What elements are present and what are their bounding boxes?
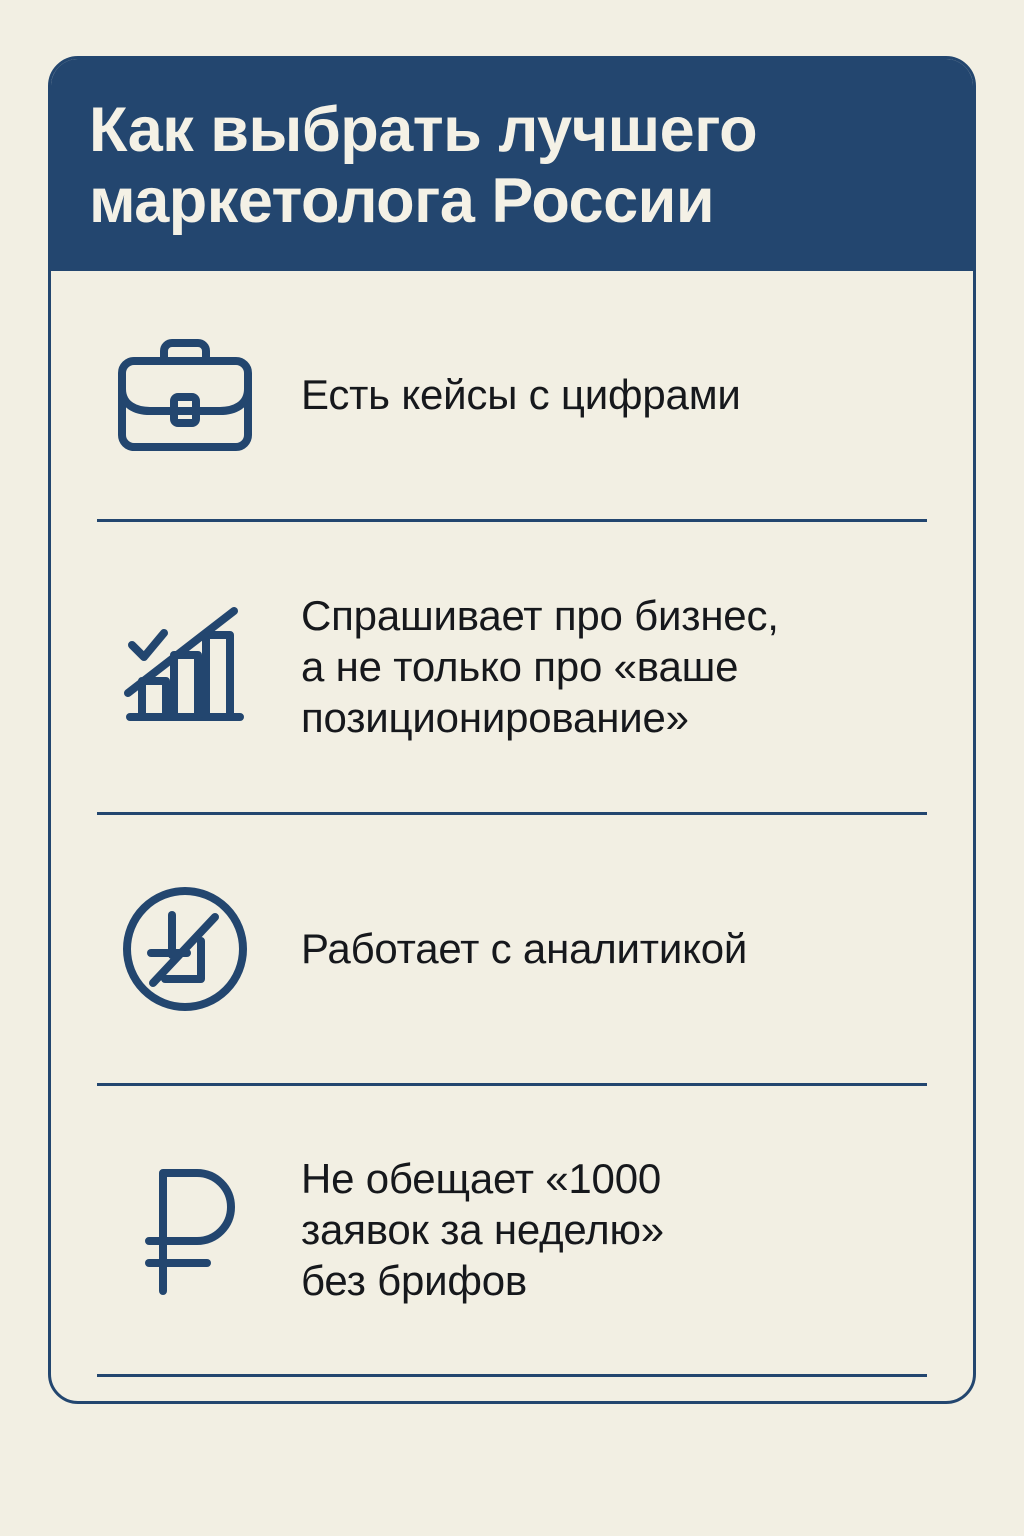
list-item: Не обещает «1000 заявок за неделю» без б…	[97, 1083, 927, 1374]
list-item-label: Не обещает «1000 заявок за неделю» без б…	[301, 1154, 927, 1306]
bar-chart-growth-check-icon	[97, 597, 273, 737]
list-item: Работает с аналитикой	[97, 812, 927, 1083]
list-item: Спрашивает про бизнес, а не только про «…	[97, 519, 927, 812]
analytics-circle-icon	[97, 879, 273, 1019]
card-header: Как выбрать лучшего маркетолога России	[51, 59, 973, 271]
list-item-label: Спрашивает про бизнес, а не только про «…	[301, 591, 927, 743]
checklist: Есть кейсы с цифрами Спрашивает про бизн…	[51, 271, 973, 1404]
list-item-label: Есть кейсы с цифрами	[301, 370, 927, 421]
list-item: Говорит на языке прибыли, а не хайпа	[97, 1374, 927, 1404]
infographic-card: Как выбрать лучшего маркетолога России Е…	[48, 56, 976, 1404]
list-item: Есть кейсы с цифрами	[97, 271, 927, 519]
page-title: Как выбрать лучшего маркетолога России	[89, 95, 933, 237]
ruble-sign-icon	[97, 1157, 273, 1303]
briefcase-icon	[97, 331, 273, 459]
infographic-page: Как выбрать лучшего маркетолога России Е…	[0, 0, 1024, 1536]
list-item-label: Работает с аналитикой	[301, 924, 927, 975]
